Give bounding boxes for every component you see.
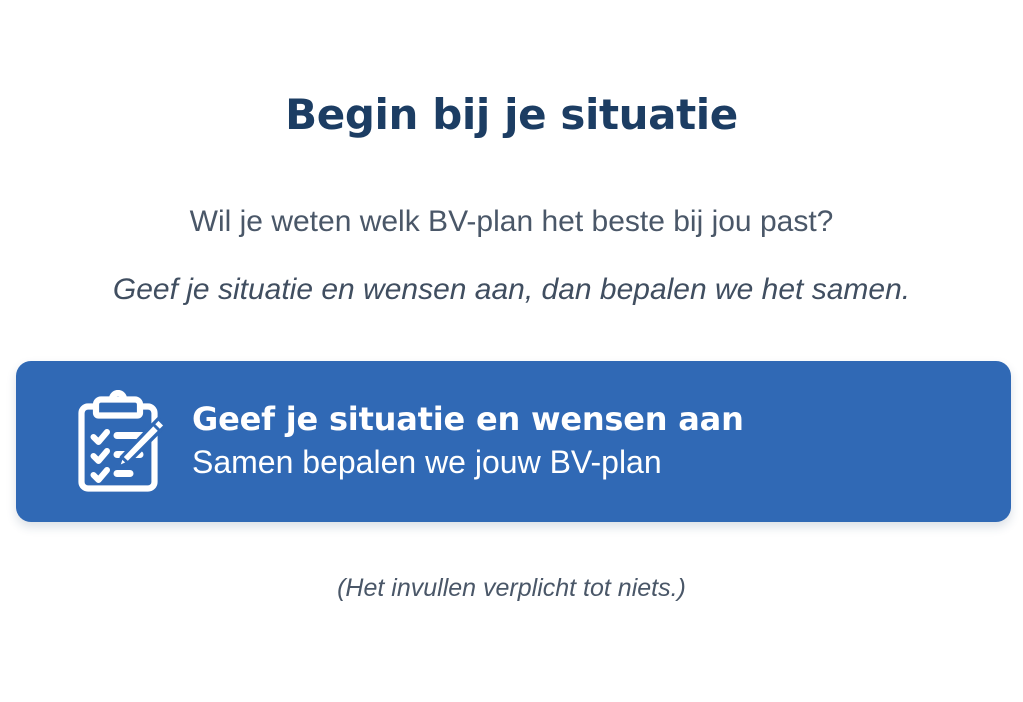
intro-question: Wil je weten welk BV-plan het beste bij … bbox=[0, 203, 1023, 241]
footnote-no-obligation: (Het invullen verplicht tot niets.) bbox=[0, 573, 1023, 604]
provide-situation-cta-button[interactable]: Geef je situatie en wensen aan Samen bep… bbox=[16, 361, 1011, 522]
situation-intake-page: Begin bij je situatie Wil je weten welk … bbox=[0, 0, 1023, 702]
cta-text-block: Geef je situatie en wensen aan Samen bep… bbox=[192, 401, 744, 481]
intro-italic-line: Geef je situatie en wensen aan, dan bepa… bbox=[0, 271, 1023, 309]
cta-heading: Geef je situatie en wensen aan bbox=[192, 401, 744, 439]
page-title: Begin bij je situatie bbox=[0, 92, 1023, 138]
clipboard-checklist-pencil-icon bbox=[70, 390, 166, 494]
cta-subheading: Samen bepalen we jouw BV-plan bbox=[192, 443, 744, 481]
